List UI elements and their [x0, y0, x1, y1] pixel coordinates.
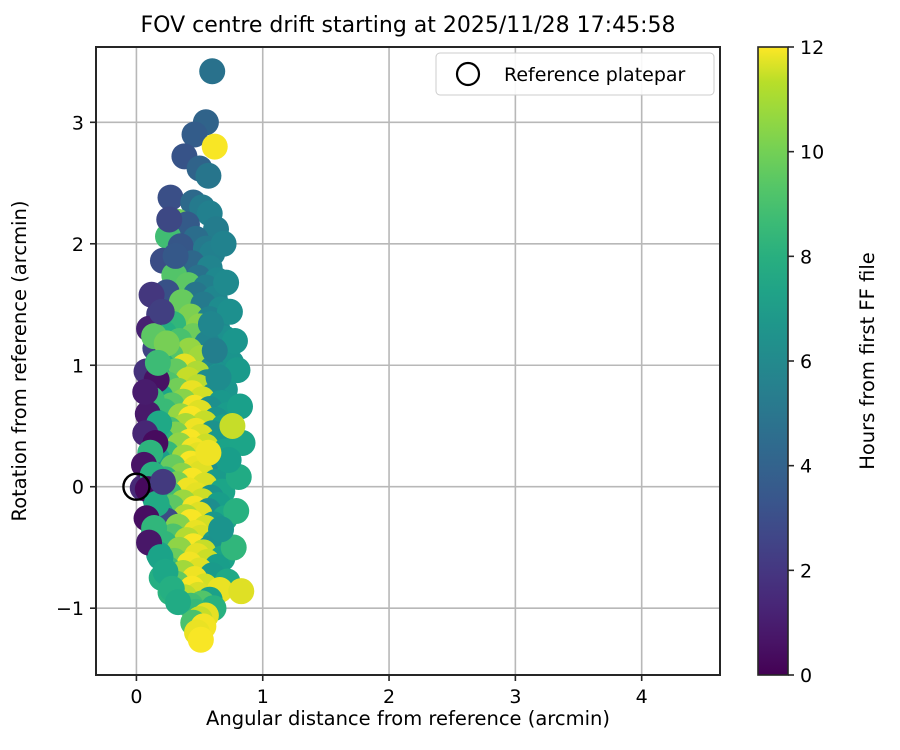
scatter-point	[211, 231, 237, 257]
legend[interactable]: Reference platepar	[436, 53, 714, 95]
y-tick-label: 2	[72, 234, 84, 256]
scatter-point	[202, 134, 228, 160]
colorbar-tick-label: 6	[800, 351, 812, 373]
y-tick-label: −1	[56, 598, 84, 620]
chart-title: FOV centre drift starting at 2025/11/28 …	[141, 13, 676, 38]
scatter-point	[188, 627, 214, 653]
scatter-point	[202, 338, 228, 364]
x-axis-label: Angular distance from reference (arcmin)	[206, 707, 610, 730]
x-tick-label: 0	[130, 686, 142, 708]
scatter-point	[163, 243, 189, 269]
scatter-point	[213, 270, 239, 296]
scatter-point	[132, 379, 158, 405]
colorbar-tick-label: 0	[800, 665, 812, 687]
colorbar-label: Hours from first FF file	[856, 252, 879, 470]
colorbar-tick-label: 4	[800, 456, 812, 478]
x-tick-label: 3	[509, 686, 521, 708]
scatter-point	[199, 58, 225, 84]
scatter-point	[206, 364, 232, 390]
colorbar-tick-label: 10	[800, 142, 824, 164]
scatter-point	[165, 589, 191, 615]
scatter-point	[156, 206, 182, 232]
scatter-point	[228, 578, 254, 604]
scatter-point	[208, 516, 234, 542]
y-tick-label: 0	[72, 477, 84, 499]
scatter-point	[150, 469, 176, 495]
colorbar-tick-label: 2	[800, 560, 812, 582]
scatter-point	[198, 311, 224, 337]
legend-label-reference-platepar: Reference platepar	[504, 64, 686, 86]
colorbar-tick-label: 12	[800, 37, 824, 59]
x-tick-label: 1	[257, 686, 269, 708]
colorbar-tick-label: 8	[800, 246, 812, 268]
x-tick-label: 2	[383, 686, 395, 708]
colorbar-gradient	[758, 47, 788, 675]
y-axis-label: Rotation from reference (arcmin)	[8, 201, 31, 522]
figure-container: FOV centre drift starting at 2025/11/28 …	[0, 0, 900, 750]
scatter-point	[219, 413, 245, 439]
scatter-point	[149, 299, 175, 325]
scatter-plot-svg: FOV centre drift starting at 2025/11/28 …	[0, 0, 900, 750]
y-tick-label: 1	[72, 355, 84, 377]
scatter-point	[195, 163, 221, 189]
scatter-point	[145, 350, 171, 376]
scatter-point	[195, 440, 221, 466]
x-tick-label: 4	[636, 686, 648, 708]
y-tick-label: 3	[72, 112, 84, 134]
